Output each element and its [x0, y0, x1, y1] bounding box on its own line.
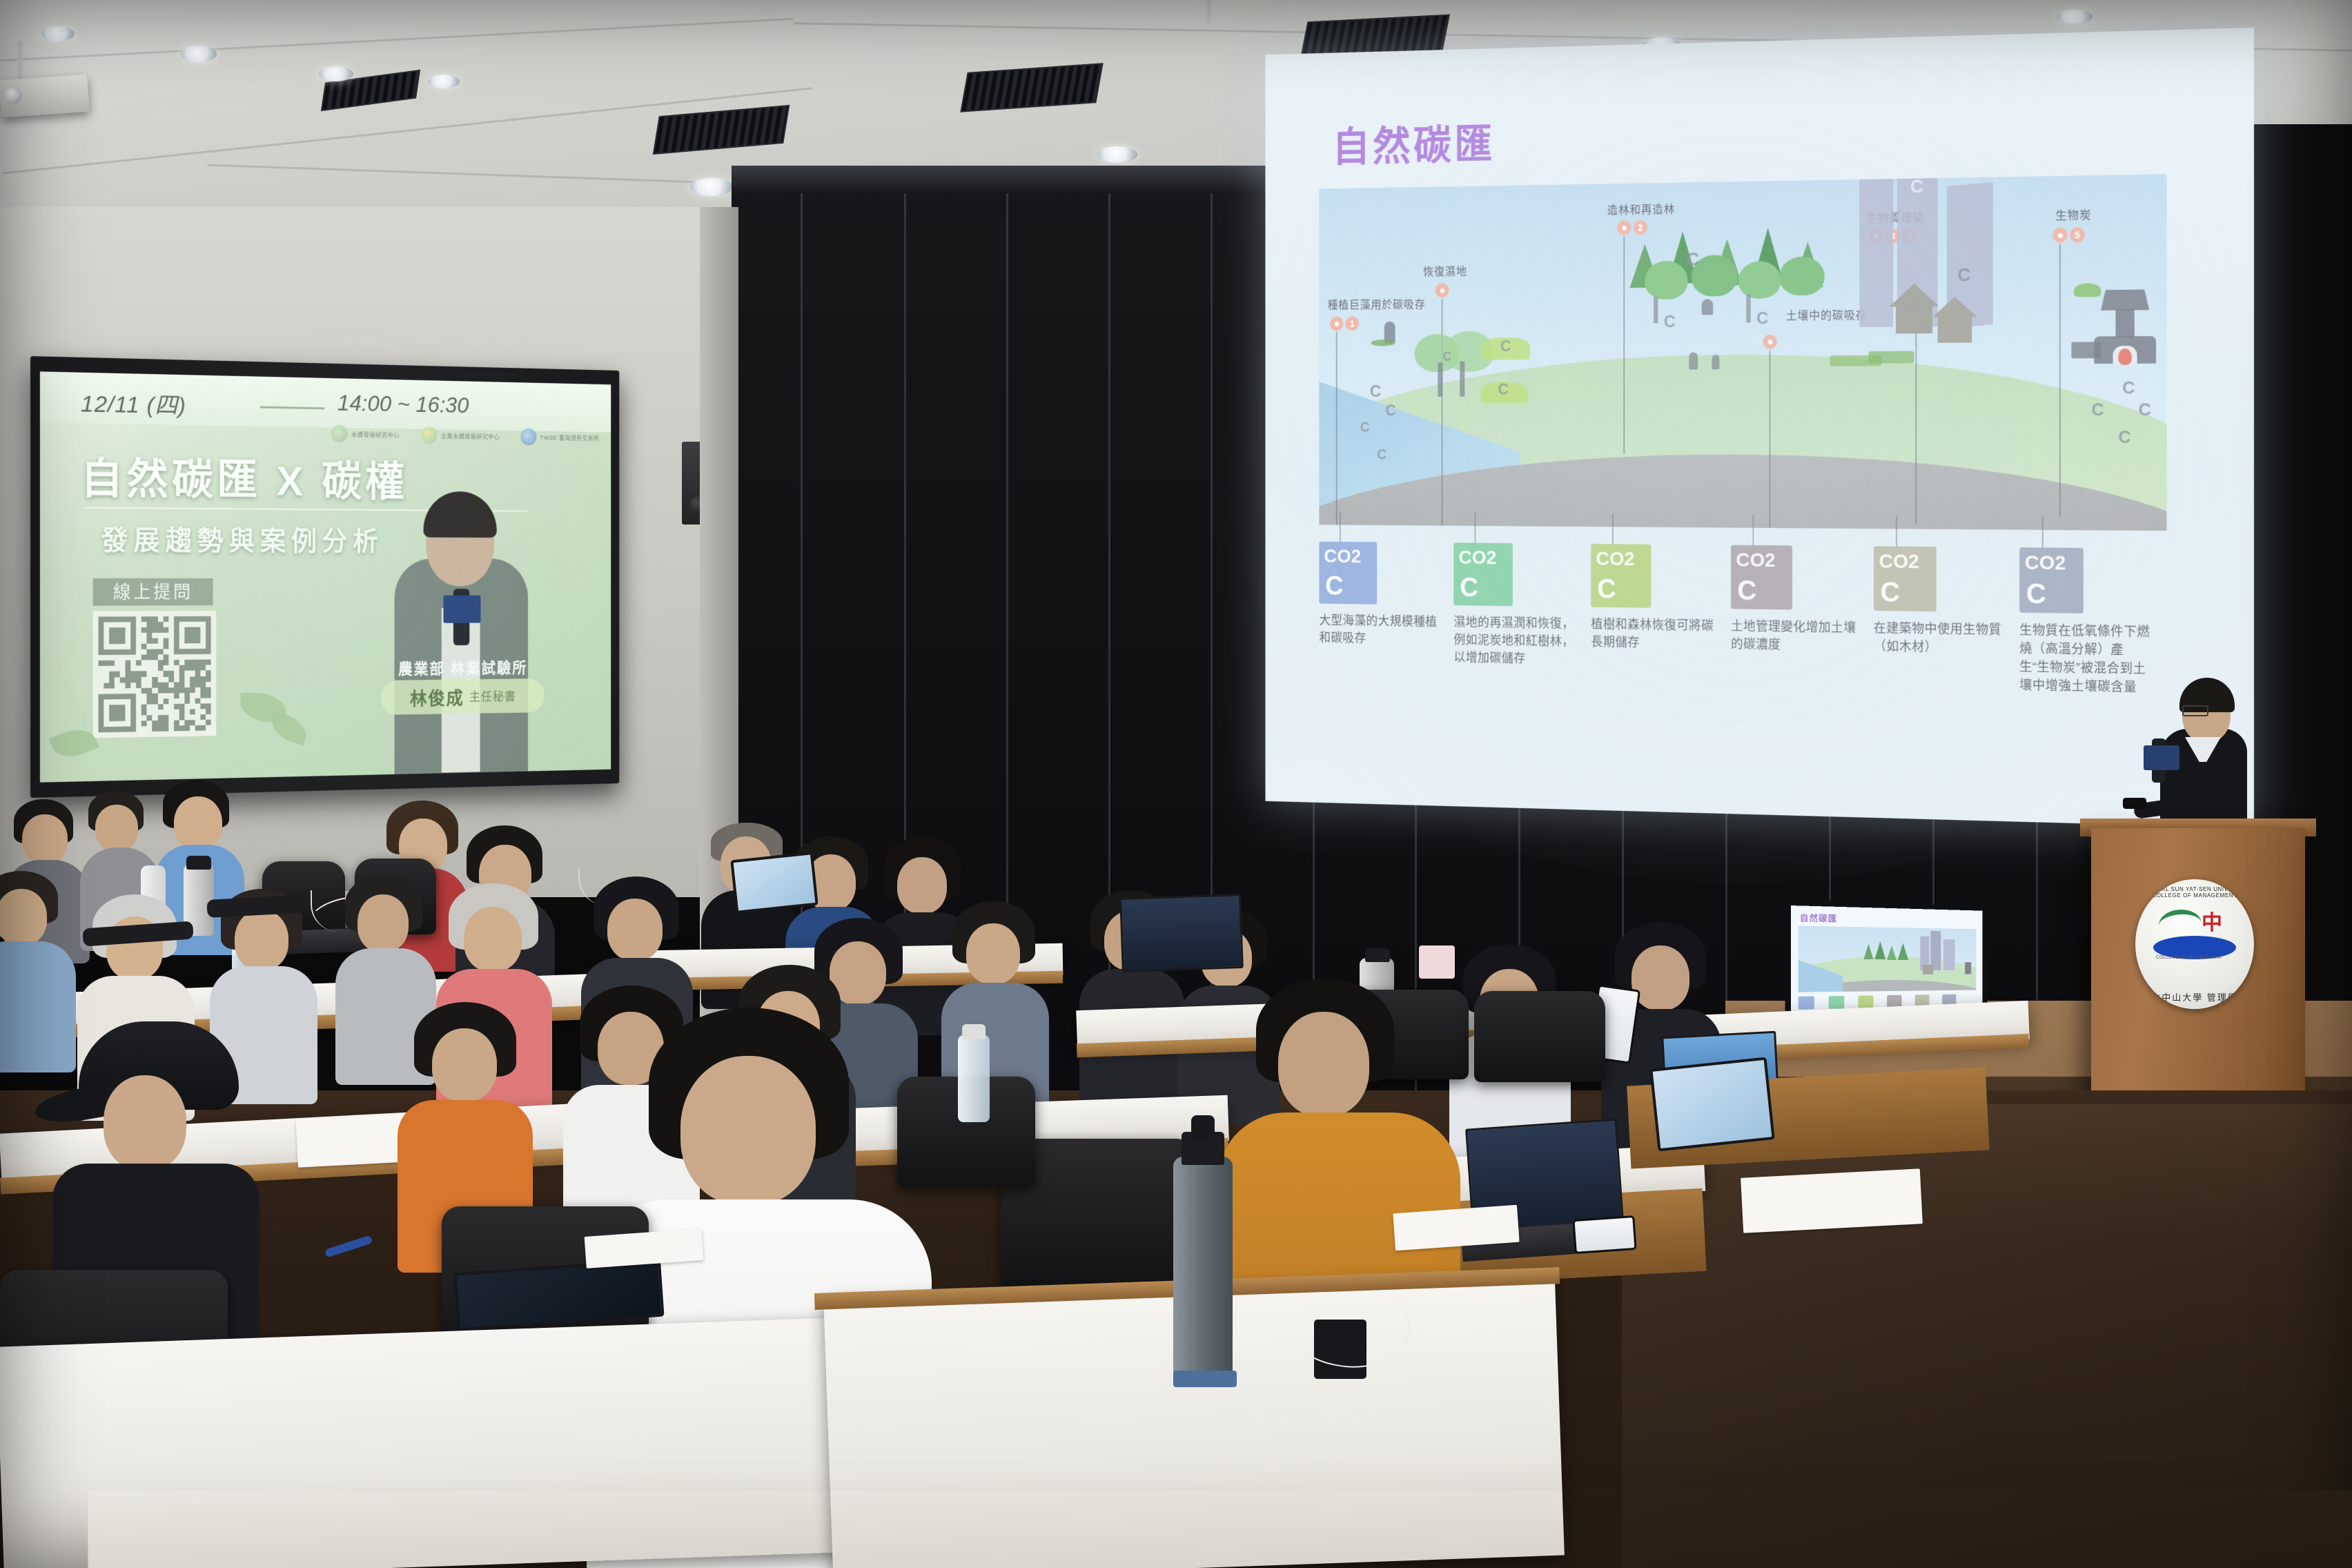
- card-text: 生物質在低氧條件下燃燒（高溫分解）產生“生物炭”被混合到土壤中增強土壤碳含量: [2019, 622, 2150, 698]
- bottle-cap: [186, 856, 211, 870]
- paper-sheet: [1741, 1168, 1923, 1233]
- carbon-method-cards: CO2 C 大型海藻的大規模種植和碳吸存 CO2 C 濕地的再濕潤和恢復，例如泥…: [1319, 542, 2173, 775]
- card-icon-c-label: C: [1597, 573, 1616, 605]
- ceiling-downlight: [1097, 146, 1137, 163]
- ceiling-downlight: [428, 75, 460, 88]
- card-icon-c-label: C: [1737, 574, 1756, 607]
- method-card: CO2 C 植樹和森林恢復可將碳長期儲存: [1591, 544, 1731, 765]
- card-text: 植樹和森林恢復可將碳長期儲存: [1591, 616, 1714, 654]
- tower-building: [1859, 174, 1893, 327]
- sports-water-bottle: [1173, 1157, 1233, 1379]
- lecture-hall-photo: 12/11 (四) 14:00 ~ 16:30 永續發展研究中心 企業永續發展研…: [0, 0, 2352, 1568]
- card-icon-c-label: C: [1880, 576, 1900, 608]
- poster-title: 自然碳匯 X 碳權: [81, 444, 408, 508]
- diagram-pin-3: 2: [1617, 220, 1647, 235]
- poster-time: 14:00 ~ 16:30: [337, 391, 469, 419]
- monitor-slide-title: 自然碳匯: [1800, 912, 1837, 925]
- qr-code: [93, 611, 217, 738]
- tablet-device: [730, 852, 818, 914]
- carbon-sink-illustration: 種植巨藻用於碳吸存 1 C C C C 恢復濕地: [1319, 174, 2166, 531]
- floor-light-reflection: [1622, 1104, 2352, 1568]
- diagram-pin-1: 1: [1330, 317, 1359, 331]
- poster-speaker-org: 農業部 林業試驗所: [382, 655, 543, 679]
- card-icon-soil: CO2 C: [1731, 545, 1792, 610]
- tissue-box: [1419, 945, 1455, 979]
- card-icon-co2-label: CO2: [1324, 545, 1361, 567]
- microphone-flag: [2144, 745, 2179, 770]
- card-icon-kelp: CO2 C: [1319, 542, 1377, 605]
- card-icon-biochar: CO2 C: [2019, 547, 2084, 614]
- bottle-cap: [962, 1024, 986, 1039]
- method-card: CO2 C 在建築物中使用生物質（如木材）: [1874, 546, 2019, 771]
- card-text: 在建築物中使用生物質（如木材）: [1874, 620, 2001, 659]
- university-crest: NATIONAL SUN YAT-SEN UNIVERSITY COLLEGE …: [2135, 879, 2254, 1009]
- left-wall-display: 12/11 (四) 14:00 ~ 16:30 永續發展研究中心 企業永續發展研…: [30, 356, 619, 798]
- poster-speaker-badge: 林俊成 主任秘書: [380, 678, 544, 715]
- card-icon-wetland: CO2 C: [1453, 542, 1512, 606]
- card-icon-forest: CO2 C: [1591, 544, 1651, 608]
- card-icon-c-label: C: [1325, 570, 1343, 601]
- presentation-slide: 自然碳匯 種植巨藻用於碳吸存 1 C C C C 恢復濕地: [1265, 28, 2254, 828]
- ceiling-air-vent: [960, 63, 1103, 112]
- sponsor-name-2: 企業永續發展研究中心: [441, 431, 500, 441]
- event-poster-slide: 12/11 (四) 14:00 ~ 16:30 永續發展研究中心 企業永續發展研…: [40, 371, 611, 782]
- bottle-cap: [1365, 948, 1390, 962]
- method-card: CO2 C 土地管理變化增加土壤的碳濃度: [1731, 545, 1874, 768]
- charging-cable: [1227, 1358, 1389, 1423]
- card-text: 大型海藻的大規模種植和碳吸存: [1319, 613, 1437, 649]
- diagram-label-soil: 土壤中的碳吸存: [1786, 306, 1868, 323]
- front-desk: [0, 1317, 860, 1568]
- sponsor-circle-leaf-logo: 企業永續發展研究中心: [421, 427, 500, 445]
- card-icon-c-label: C: [1460, 571, 1478, 603]
- sponsor-name-1: 永續發展研究中心: [351, 429, 400, 439]
- poster-speaker-role: 主任秘書: [469, 687, 516, 705]
- method-card: CO2 C 濕地的再濕潤和恢復，例如泥炭地和紅樹林，以增加碳儲存: [1453, 542, 1591, 761]
- card-icon-building: CO2 C: [1874, 546, 1937, 611]
- monitor-slide-illustration: [1799, 926, 1977, 992]
- card-icon-co2-label: CO2: [1596, 548, 1634, 571]
- poster-speaker-photo: 農業部 林業試驗所 林俊成 主任秘書: [369, 459, 556, 771]
- laptop-display: [1119, 894, 1244, 972]
- biochar-kiln: [2101, 289, 2149, 310]
- presenter: [2146, 663, 2257, 842]
- sponsor-twse-logo: TWSE 臺灣證券交易所: [520, 428, 599, 446]
- ceiling-projector: [0, 75, 90, 118]
- bottle-cap-knob: [1191, 1115, 1215, 1139]
- tablet-device: [1649, 1057, 1775, 1151]
- qr-label: 線上提問: [93, 578, 213, 606]
- card-icon-co2-label: CO2: [1736, 549, 1775, 572]
- sponsor-name-3: TWSE 臺灣證券交易所: [540, 433, 600, 442]
- ceiling-downlight: [319, 66, 353, 81]
- main-projection-screen: 自然碳匯 種植巨藻用於碳吸存 1 C C C C 恢復濕地: [1265, 28, 2254, 828]
- diagram-pin-2: [1435, 283, 1449, 297]
- method-card: CO2 C 大型海藻的大規模種植和碳吸存: [1319, 542, 1453, 758]
- diagram-pin-4: [1763, 335, 1776, 349]
- card-icon-co2-label: CO2: [1879, 550, 1919, 574]
- audience-chair: [1474, 991, 1605, 1082]
- ceiling-downlight: [41, 26, 75, 41]
- water-bottle: [958, 1035, 990, 1122]
- ceiling-downlight: [2057, 10, 2093, 23]
- sponsor-leaf-logo: 永續發展研究中心: [331, 425, 400, 444]
- diagram-label-biochar: 生物炭: [2055, 206, 2091, 223]
- crest-english-text: NATIONAL SUN YAT-SEN UNIVERSITY COLLEGE …: [2135, 886, 2254, 899]
- projector-mount-rod-2: [1206, 0, 1211, 23]
- ceiling-air-vent: [653, 105, 790, 155]
- diagram-label-wetland: 恢復濕地: [1423, 262, 1467, 279]
- poster-speaker-name: 林俊成: [410, 684, 464, 710]
- diagram-label-kelp: 種植巨藻用於碳吸存: [1328, 295, 1426, 313]
- poster-date: 12/11 (四): [81, 385, 186, 420]
- card-text: 土地管理變化增加土壤的碳濃度: [1731, 618, 1856, 656]
- ceiling-downlight: [690, 178, 733, 196]
- slide-title: 自然碳匯: [1333, 111, 1496, 173]
- card-icon-co2-label: CO2: [1458, 547, 1496, 569]
- crest-sub-text: COLLEGE OF MANAGEMENT: [2156, 955, 2254, 960]
- card-icon-c-label: C: [2026, 578, 2046, 611]
- card-text: 濕地的再濕潤和恢復，例如泥炭地和紅樹林，以增加碳儲存: [1453, 614, 1574, 669]
- ceiling-downlight: [181, 46, 217, 62]
- diagram-pin-6: 5: [2052, 227, 2084, 242]
- smartphone: [1572, 1215, 1636, 1254]
- poster-subtitle: 發展趨勢與案例分析: [101, 518, 383, 558]
- diagram-label-afforestation: 造林和再造林: [1607, 200, 1675, 217]
- card-icon-co2-label: CO2: [2025, 551, 2066, 575]
- crest-chinese-text: 國立中山大學 管理學院: [2135, 990, 2254, 1003]
- bottle-base-mat: [1173, 1371, 1237, 1387]
- projector-mount-rod: [18, 41, 23, 81]
- crest-chinese-char: 中: [2202, 905, 2224, 962]
- presenter-clicker: [2123, 798, 2146, 809]
- eyeglasses: [2182, 705, 2208, 716]
